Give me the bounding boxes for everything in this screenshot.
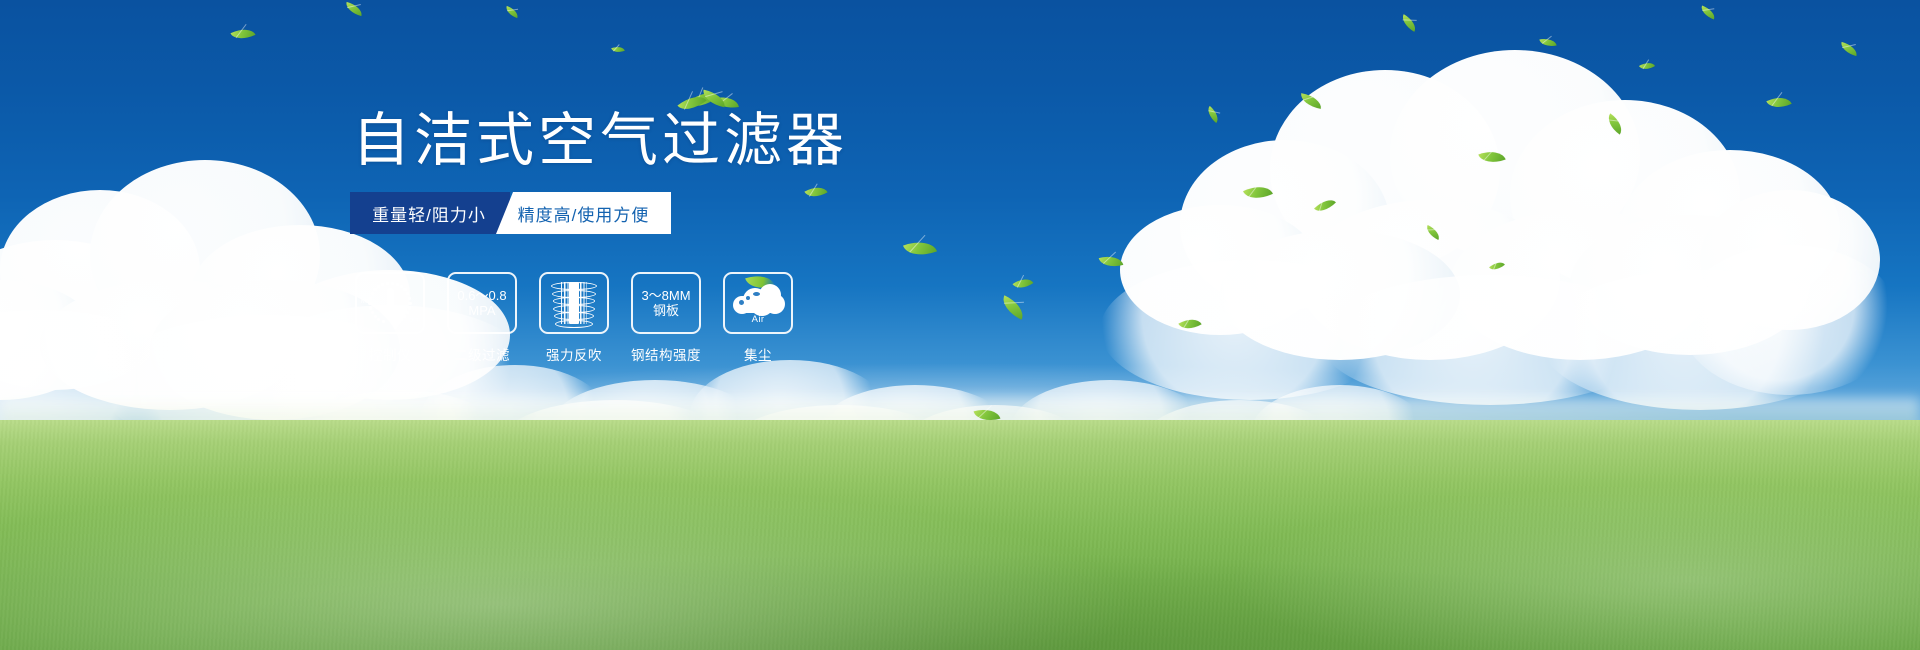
gauge-tick bbox=[374, 315, 377, 318]
feature-list: NO OFF 控制仪 0.6～0.8 MPA 二级过滤 bbox=[355, 272, 793, 364]
feature-label: 集尘 bbox=[723, 344, 793, 364]
gauge-tick bbox=[369, 306, 372, 309]
promo-banner: 自洁式空气过滤器 重量轻/阻力小 精度高/使用方便 NO OFF 控制仪 bbox=[0, 0, 1920, 650]
feature-icon-box bbox=[539, 272, 609, 334]
steel-material: 钢板 bbox=[641, 303, 690, 318]
gauge-tick bbox=[381, 283, 384, 286]
feature-icon-box: 0.6～0.8 MPA bbox=[447, 272, 517, 334]
gauge-tick bbox=[368, 302, 371, 305]
gauge-tick bbox=[403, 288, 406, 291]
feature-item-dust-collection[interactable]: Air 集尘 bbox=[723, 272, 793, 364]
air-label: Air bbox=[731, 314, 785, 325]
feature-icon-box: 3～8MM 钢板 bbox=[631, 272, 701, 334]
air-cloud-icon: Air bbox=[731, 282, 785, 324]
pressure-unit: MPA bbox=[457, 303, 506, 318]
feature-item-controller[interactable]: NO OFF 控制仪 bbox=[355, 272, 425, 364]
steel-text-icon: 3～8MM 钢板 bbox=[641, 288, 690, 319]
pressure-text-icon: 0.6～0.8 MPA bbox=[457, 288, 506, 319]
gauge-tick bbox=[408, 302, 411, 305]
tab-bar: 重量轻/阻力小 精度高/使用方便 bbox=[350, 192, 671, 234]
feature-label: 控制仪 bbox=[355, 344, 425, 364]
feature-item-strong-blowback[interactable]: 强力反吹 bbox=[539, 272, 609, 364]
gauge-tick bbox=[386, 282, 389, 285]
gauge-tick bbox=[371, 292, 374, 295]
gauge-icon: NO OFF bbox=[364, 279, 416, 327]
feature-item-steel-strength[interactable]: 3～8MM 钢板 钢结构强度 bbox=[631, 272, 701, 364]
gauge-tick bbox=[406, 311, 409, 314]
feature-item-two-stage-filter[interactable]: 0.6～0.8 MPA 二级过滤 bbox=[447, 272, 517, 364]
feature-label: 钢结构强度 bbox=[631, 344, 701, 364]
gauge-tick bbox=[377, 285, 380, 288]
tab-highprecision-easyuse[interactable]: 精度高/使用方便 bbox=[496, 192, 671, 234]
feature-label: 强力反吹 bbox=[539, 344, 609, 364]
page-title: 自洁式空气过滤器 bbox=[352, 112, 848, 170]
banner-content: 自洁式空气过滤器 重量轻/阻力小 精度高/使用方便 NO OFF 控制仪 bbox=[0, 0, 1920, 650]
gauge-tick bbox=[400, 318, 403, 321]
gauge-tick bbox=[377, 318, 380, 321]
dust-speck bbox=[739, 300, 744, 305]
gauge-tick bbox=[395, 320, 398, 323]
gauge-tick bbox=[382, 320, 385, 323]
steel-thickness: 3～8MM bbox=[641, 288, 690, 303]
gauge-tick bbox=[396, 283, 399, 286]
gauge-tick bbox=[373, 288, 376, 291]
gauge-tick bbox=[406, 292, 409, 295]
gauge-tick bbox=[369, 297, 372, 300]
tab-lightweight-lowresistance[interactable]: 重量轻/阻力小 bbox=[350, 192, 510, 234]
dust-speck bbox=[746, 296, 750, 300]
gauge-label-off: OFF bbox=[409, 318, 420, 324]
gauge-tick bbox=[391, 282, 394, 285]
coil-ring bbox=[553, 297, 596, 305]
gauge-tick bbox=[403, 315, 406, 318]
feature-icon-box: Air bbox=[723, 272, 793, 334]
gauge-tick bbox=[371, 311, 374, 314]
feature-label: 二级过滤 bbox=[447, 344, 517, 364]
gauge-tick bbox=[408, 297, 411, 300]
feature-icon-box: NO OFF bbox=[355, 272, 425, 334]
gauge-needle bbox=[387, 288, 394, 318]
coil-ring bbox=[551, 282, 597, 290]
gauge-tick bbox=[408, 306, 411, 309]
pressure-value: 0.6～0.8 bbox=[457, 288, 506, 303]
coil-icon bbox=[551, 280, 597, 326]
coil-ring bbox=[555, 320, 593, 328]
cloud-lobe bbox=[751, 296, 773, 316]
dust-speck bbox=[753, 292, 760, 296]
